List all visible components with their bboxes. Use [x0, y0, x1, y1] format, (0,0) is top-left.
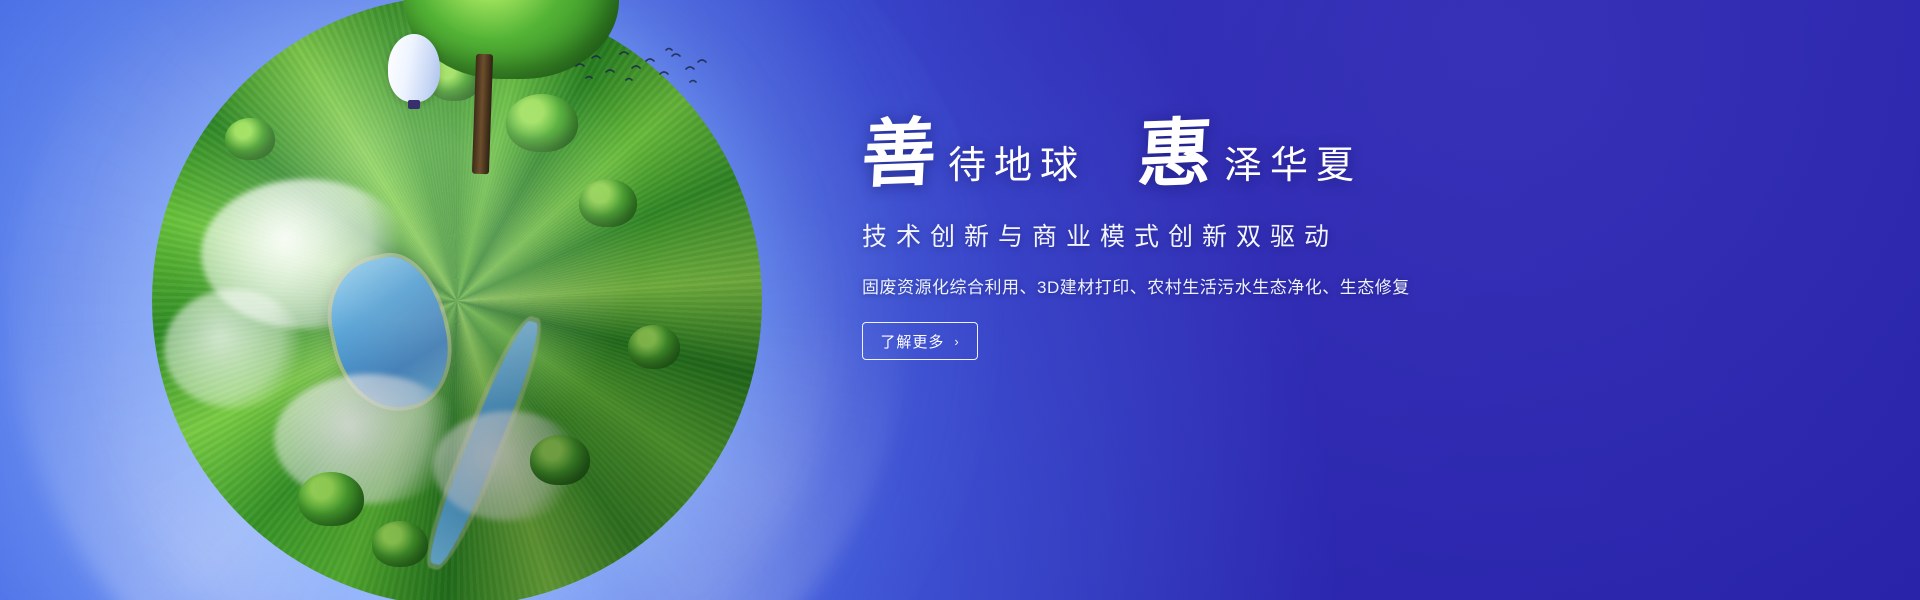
learn-more-label: 了解更多 [880, 331, 944, 352]
learn-more-button[interactable]: 了解更多 › [862, 322, 978, 360]
headline-phrase2-big: 惠 [1136, 119, 1214, 193]
balloon-envelope [388, 34, 440, 102]
planet-sphere [152, 0, 762, 600]
headline: 善 待地球 惠 泽华夏 [862, 120, 1622, 191]
planet-shading [152, 0, 762, 600]
flock-of-birds-icon [572, 44, 712, 90]
headline-phrase1-big: 善 [860, 119, 938, 193]
hero-banner: 善 待地球 惠 泽华夏 技术创新与商业模式创新双驱动 固废资源化综合利用、3D建… [0, 0, 1920, 600]
headline-phrase2-rest: 泽华夏 [1212, 147, 1362, 191]
banner-description: 固废资源化综合利用、3D建材打印、农村生活污水生态净化、生态修复 [862, 273, 1622, 298]
tiny-planet-globe [152, 0, 762, 600]
banner-content: 善 待地球 惠 泽华夏 技术创新与商业模式创新双驱动 固废资源化综合利用、3D建… [862, 120, 1622, 360]
headline-phrase1-rest: 待地球 [936, 147, 1086, 191]
banner-subtitle: 技术创新与商业模式创新双驱动 [862, 217, 1622, 253]
chevron-right-icon: › [954, 334, 959, 349]
hot-air-balloon [388, 34, 440, 102]
balloon-basket [408, 100, 420, 109]
